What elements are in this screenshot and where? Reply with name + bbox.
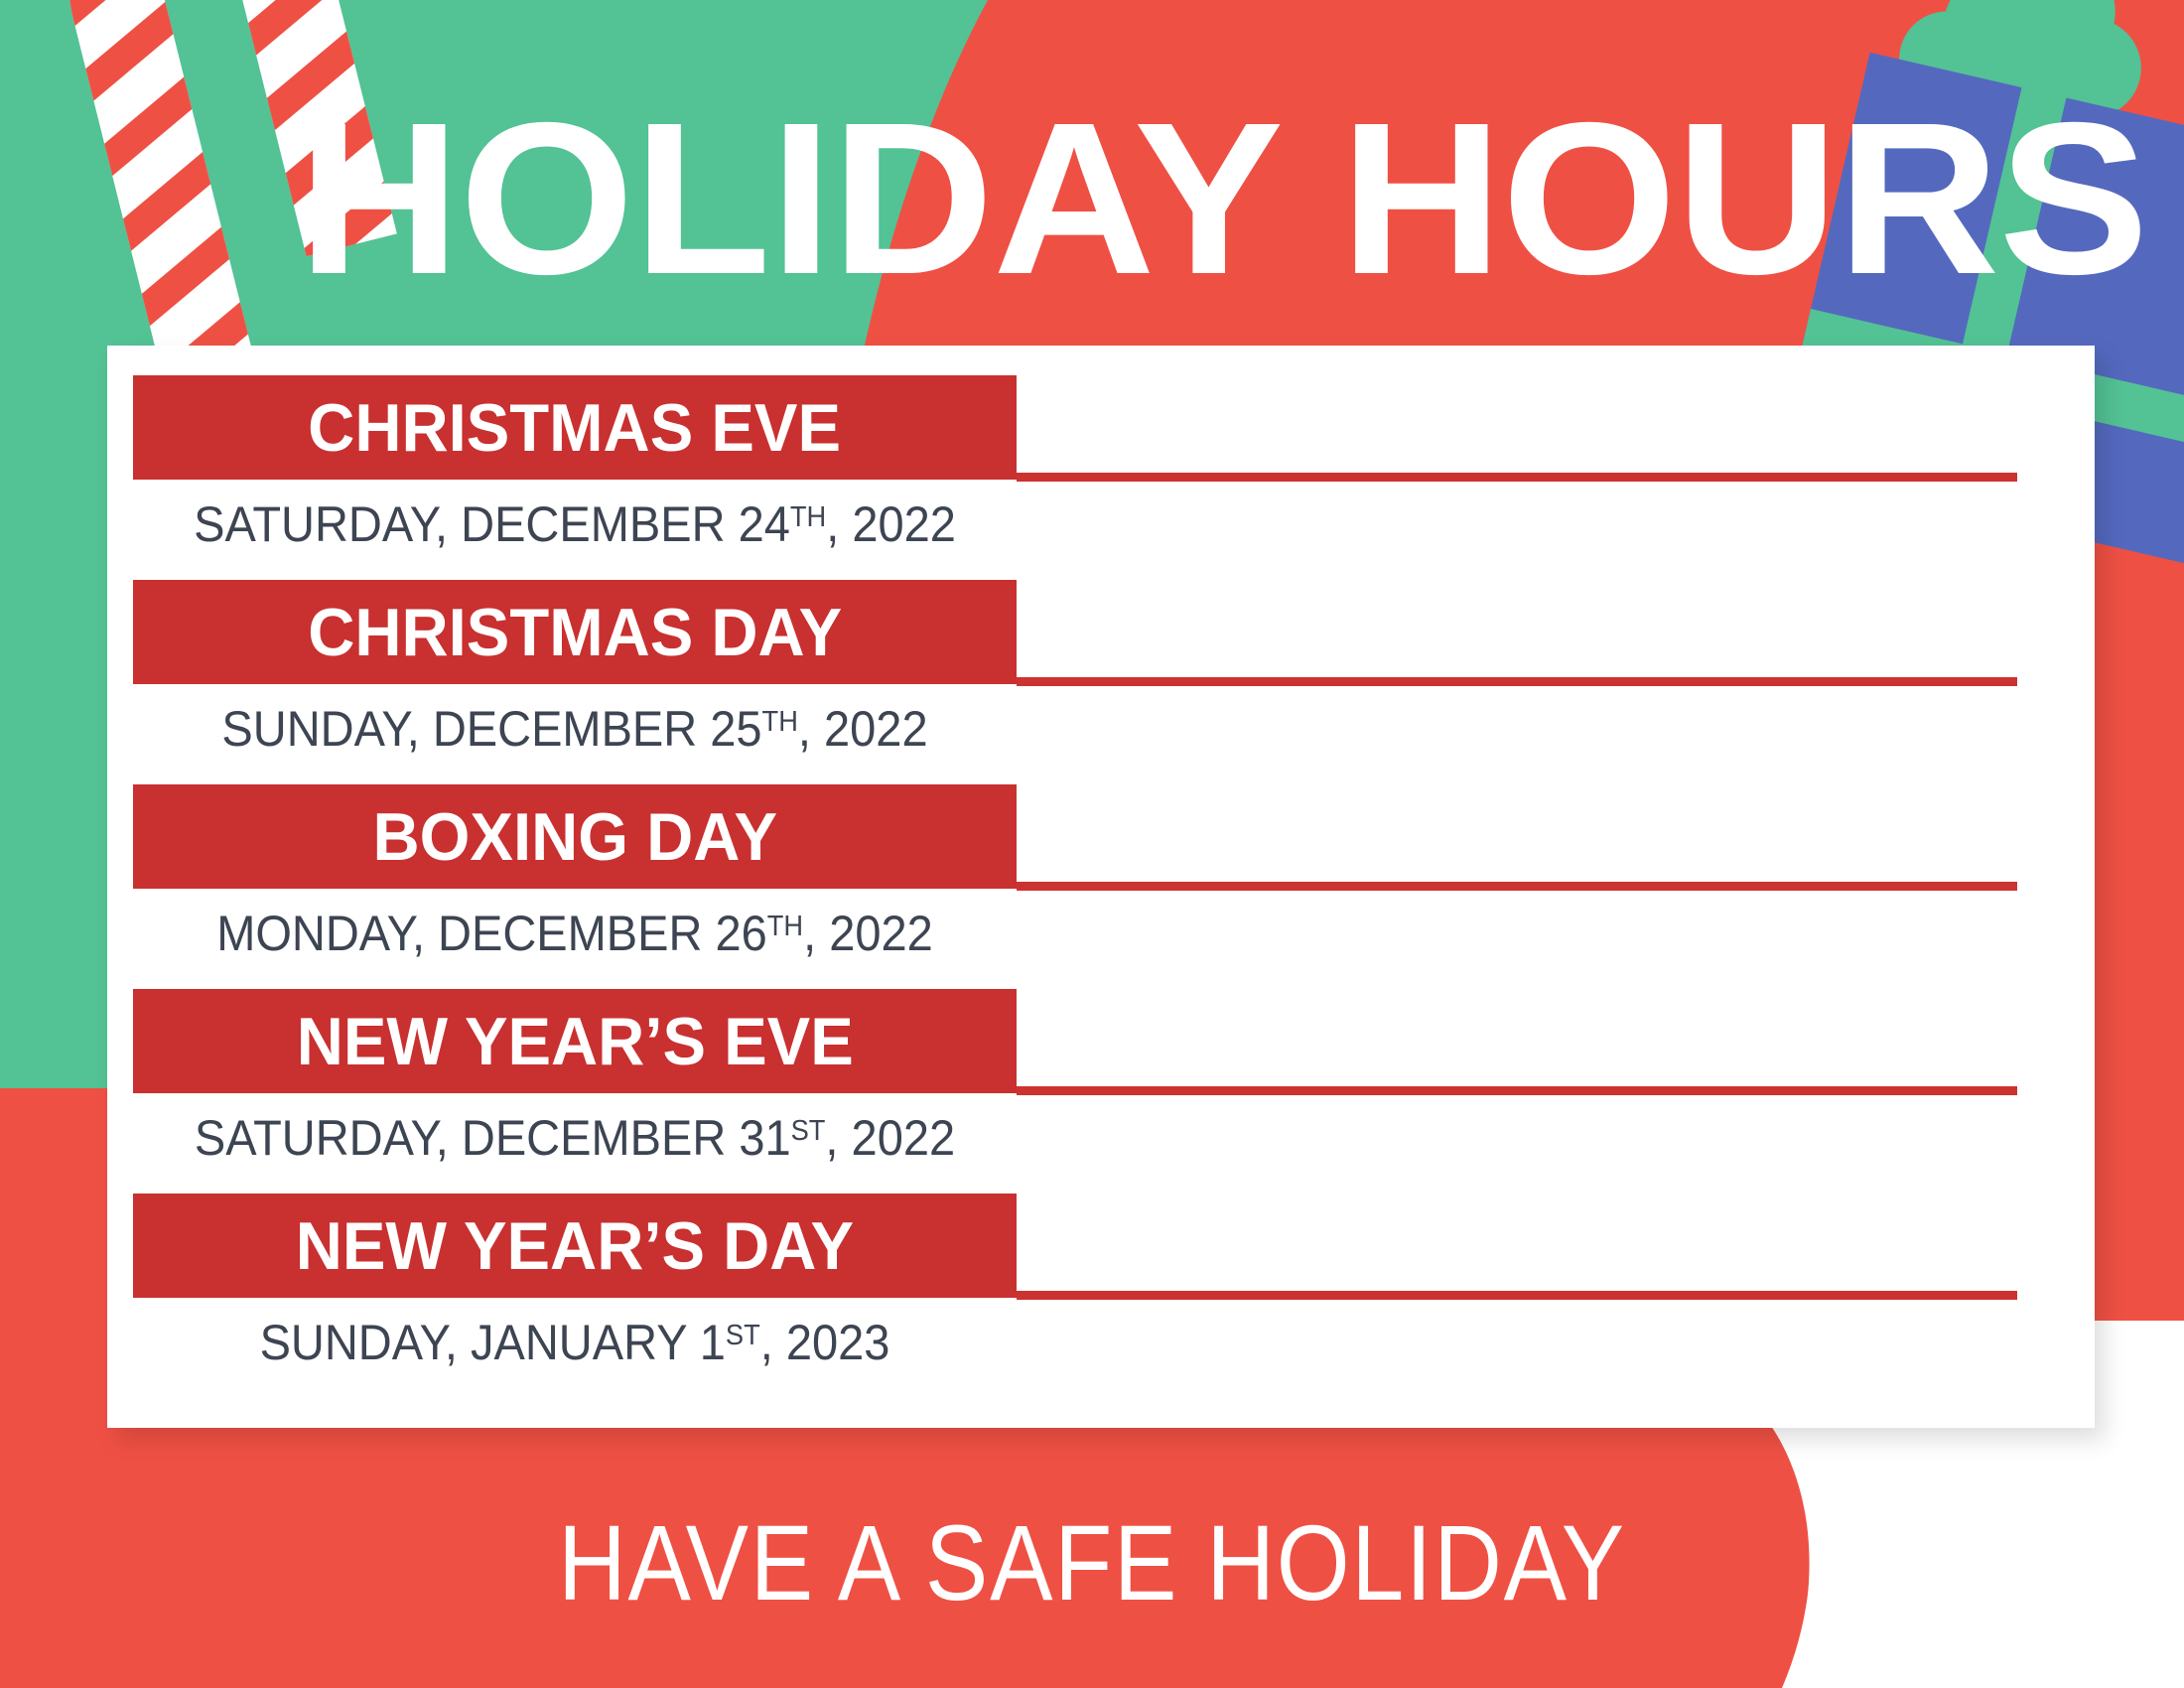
date-suffix: , 2022 <box>826 496 956 552</box>
page-title: HOLIDAY HOURS <box>298 91 2011 308</box>
date-suffix: , 2022 <box>825 1110 955 1166</box>
holiday-label: CHRISTMAS EVE <box>309 394 842 462</box>
holiday-label-block: BOXING DAY <box>133 784 1017 889</box>
table-row: NEW YEAR’S DAY SUNDAY, JANUARY 1ST, 2023 <box>107 1194 2095 1410</box>
holiday-date: SATURDAY, DECEMBER 31ST, 2022 <box>160 1100 991 1169</box>
hours-write-in-rule <box>1017 882 2017 891</box>
date-ordinal: ST <box>791 1115 826 1147</box>
holiday-label-block: NEW YEAR’S EVE <box>133 989 1017 1093</box>
date-prefix: MONDAY, DECEMBER 26 <box>216 906 767 961</box>
date-prefix: SATURDAY, DECEMBER 31 <box>195 1110 791 1166</box>
holiday-hours-poster: HOLIDAY HOURS CHRISTMAS EVE SATURDAY, DE… <box>0 0 2184 1688</box>
holiday-label-block: NEW YEAR’S DAY <box>133 1194 1017 1298</box>
hours-write-in-rule <box>1017 1291 2017 1300</box>
date-ordinal: ST <box>726 1320 760 1351</box>
hours-write-in-rule <box>1017 1086 2017 1095</box>
holiday-label-block: CHRISTMAS DAY <box>133 580 1017 684</box>
holiday-date: SUNDAY, JANUARY 1ST, 2023 <box>160 1305 991 1373</box>
date-suffix: , 2022 <box>798 701 928 757</box>
date-suffix: , 2022 <box>803 906 933 961</box>
holiday-date: SATURDAY, DECEMBER 24TH, 2022 <box>160 487 991 555</box>
table-row: CHRISTMAS DAY SUNDAY, DECEMBER 25TH, 202… <box>107 580 2095 796</box>
holiday-label: NEW YEAR’S DAY <box>296 1212 854 1280</box>
date-prefix: SUNDAY, DECEMBER 25 <box>221 701 761 757</box>
footer-message: HAVE A SAFE HOLIDAY <box>131 1509 2053 1617</box>
table-row: CHRISTMAS EVE SATURDAY, DECEMBER 24TH, 2… <box>107 375 2095 592</box>
table-row: NEW YEAR’S EVE SATURDAY, DECEMBER 31ST, … <box>107 989 2095 1205</box>
hours-write-in-rule <box>1017 473 2017 482</box>
date-ordinal: TH <box>790 501 826 533</box>
date-suffix: , 2023 <box>760 1315 890 1370</box>
date-ordinal: TH <box>767 911 803 942</box>
holiday-label-block: CHRISTMAS EVE <box>133 375 1017 480</box>
holiday-label: BOXING DAY <box>372 803 776 871</box>
hours-card: CHRISTMAS EVE SATURDAY, DECEMBER 24TH, 2… <box>107 346 2095 1428</box>
hours-write-in-rule <box>1017 677 2017 686</box>
date-ordinal: TH <box>762 706 798 738</box>
holiday-date: MONDAY, DECEMBER 26TH, 2022 <box>160 896 991 964</box>
hours-row-list: CHRISTMAS EVE SATURDAY, DECEMBER 24TH, 2… <box>107 346 2095 1428</box>
holiday-label: NEW YEAR’S EVE <box>296 1008 853 1075</box>
holiday-date: SUNDAY, DECEMBER 25TH, 2022 <box>160 691 991 760</box>
holiday-label: CHRISTMAS DAY <box>308 599 842 666</box>
date-prefix: SATURDAY, DECEMBER 24 <box>194 496 790 552</box>
date-prefix: SUNDAY, JANUARY 1 <box>260 1315 726 1370</box>
table-row: BOXING DAY MONDAY, DECEMBER 26TH, 2022 <box>107 784 2095 1001</box>
